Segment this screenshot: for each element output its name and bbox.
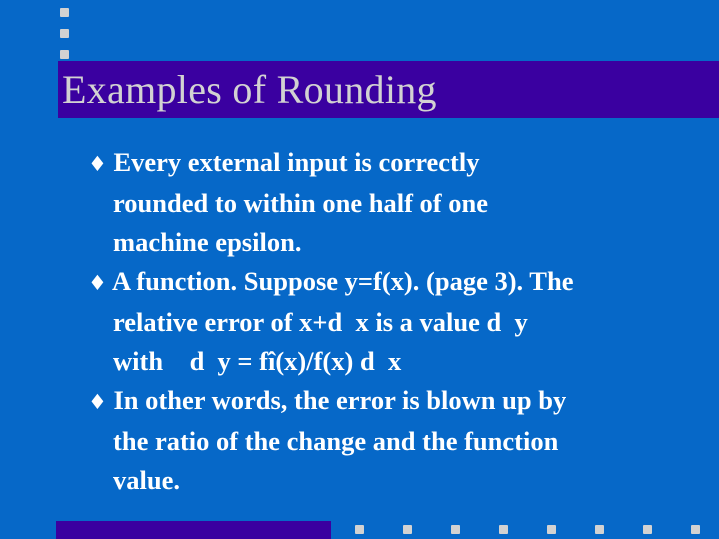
page-title: Examples of Rounding — [58, 61, 719, 118]
bullet-line: value. — [88, 461, 708, 500]
diamond-bullet-icon: ♦ — [88, 152, 107, 176]
bullet-item: ♦ Every external input is correctly roun… — [88, 143, 708, 262]
decorative-dot-icon — [403, 525, 412, 534]
decorative-dot-icon — [355, 525, 364, 534]
bullet-line-text: In other words, the error is blown up by — [107, 385, 566, 415]
decorative-dot-icon — [499, 525, 508, 534]
decorative-dot-icon — [60, 50, 69, 59]
bullet-line: rounded to within one half of one — [88, 184, 708, 223]
decorative-dot-icon — [547, 525, 556, 534]
bullet-line: ♦ A function. Suppose y=f(x). (page 3). … — [88, 262, 708, 303]
decorative-dot-icon — [60, 29, 69, 38]
bullet-line-text: A function. Suppose y=f(x). (page 3). Th… — [107, 266, 574, 296]
decorative-dot-icon — [451, 525, 460, 534]
decorative-dot-icon — [691, 525, 700, 534]
diamond-bullet-icon: ♦ — [88, 271, 107, 295]
decorative-dot-icon — [60, 8, 69, 17]
bullet-line: relative error of x+d x is a value d y — [88, 303, 708, 342]
title-band: Examples of Rounding — [58, 61, 719, 118]
bullet-line: ♦ Every external input is correctly — [88, 143, 708, 184]
bottom-accent-bar — [56, 521, 331, 539]
diamond-bullet-icon: ♦ — [88, 390, 107, 414]
bullet-line: the ratio of the change and the function — [88, 422, 708, 461]
bullet-line: ♦ In other words, the error is blown up … — [88, 381, 708, 422]
bullet-item: ♦ A function. Suppose y=f(x). (page 3). … — [88, 262, 708, 381]
bullet-item: ♦ In other words, the error is blown up … — [88, 381, 708, 500]
decorative-dot-icon — [643, 525, 652, 534]
bullet-line: machine epsilon. — [88, 223, 708, 262]
left-dot-column — [60, 8, 70, 59]
slide: Examples of Rounding ♦ Every external in… — [0, 0, 719, 539]
bottom-dot-row — [355, 524, 700, 534]
bullet-line: with d y = fî(x)/f(x) d x — [88, 342, 708, 381]
bullet-line-text: Every external input is correctly — [107, 147, 480, 177]
slide-body: ♦ Every external input is correctly roun… — [88, 143, 708, 500]
decorative-dot-icon — [595, 525, 604, 534]
